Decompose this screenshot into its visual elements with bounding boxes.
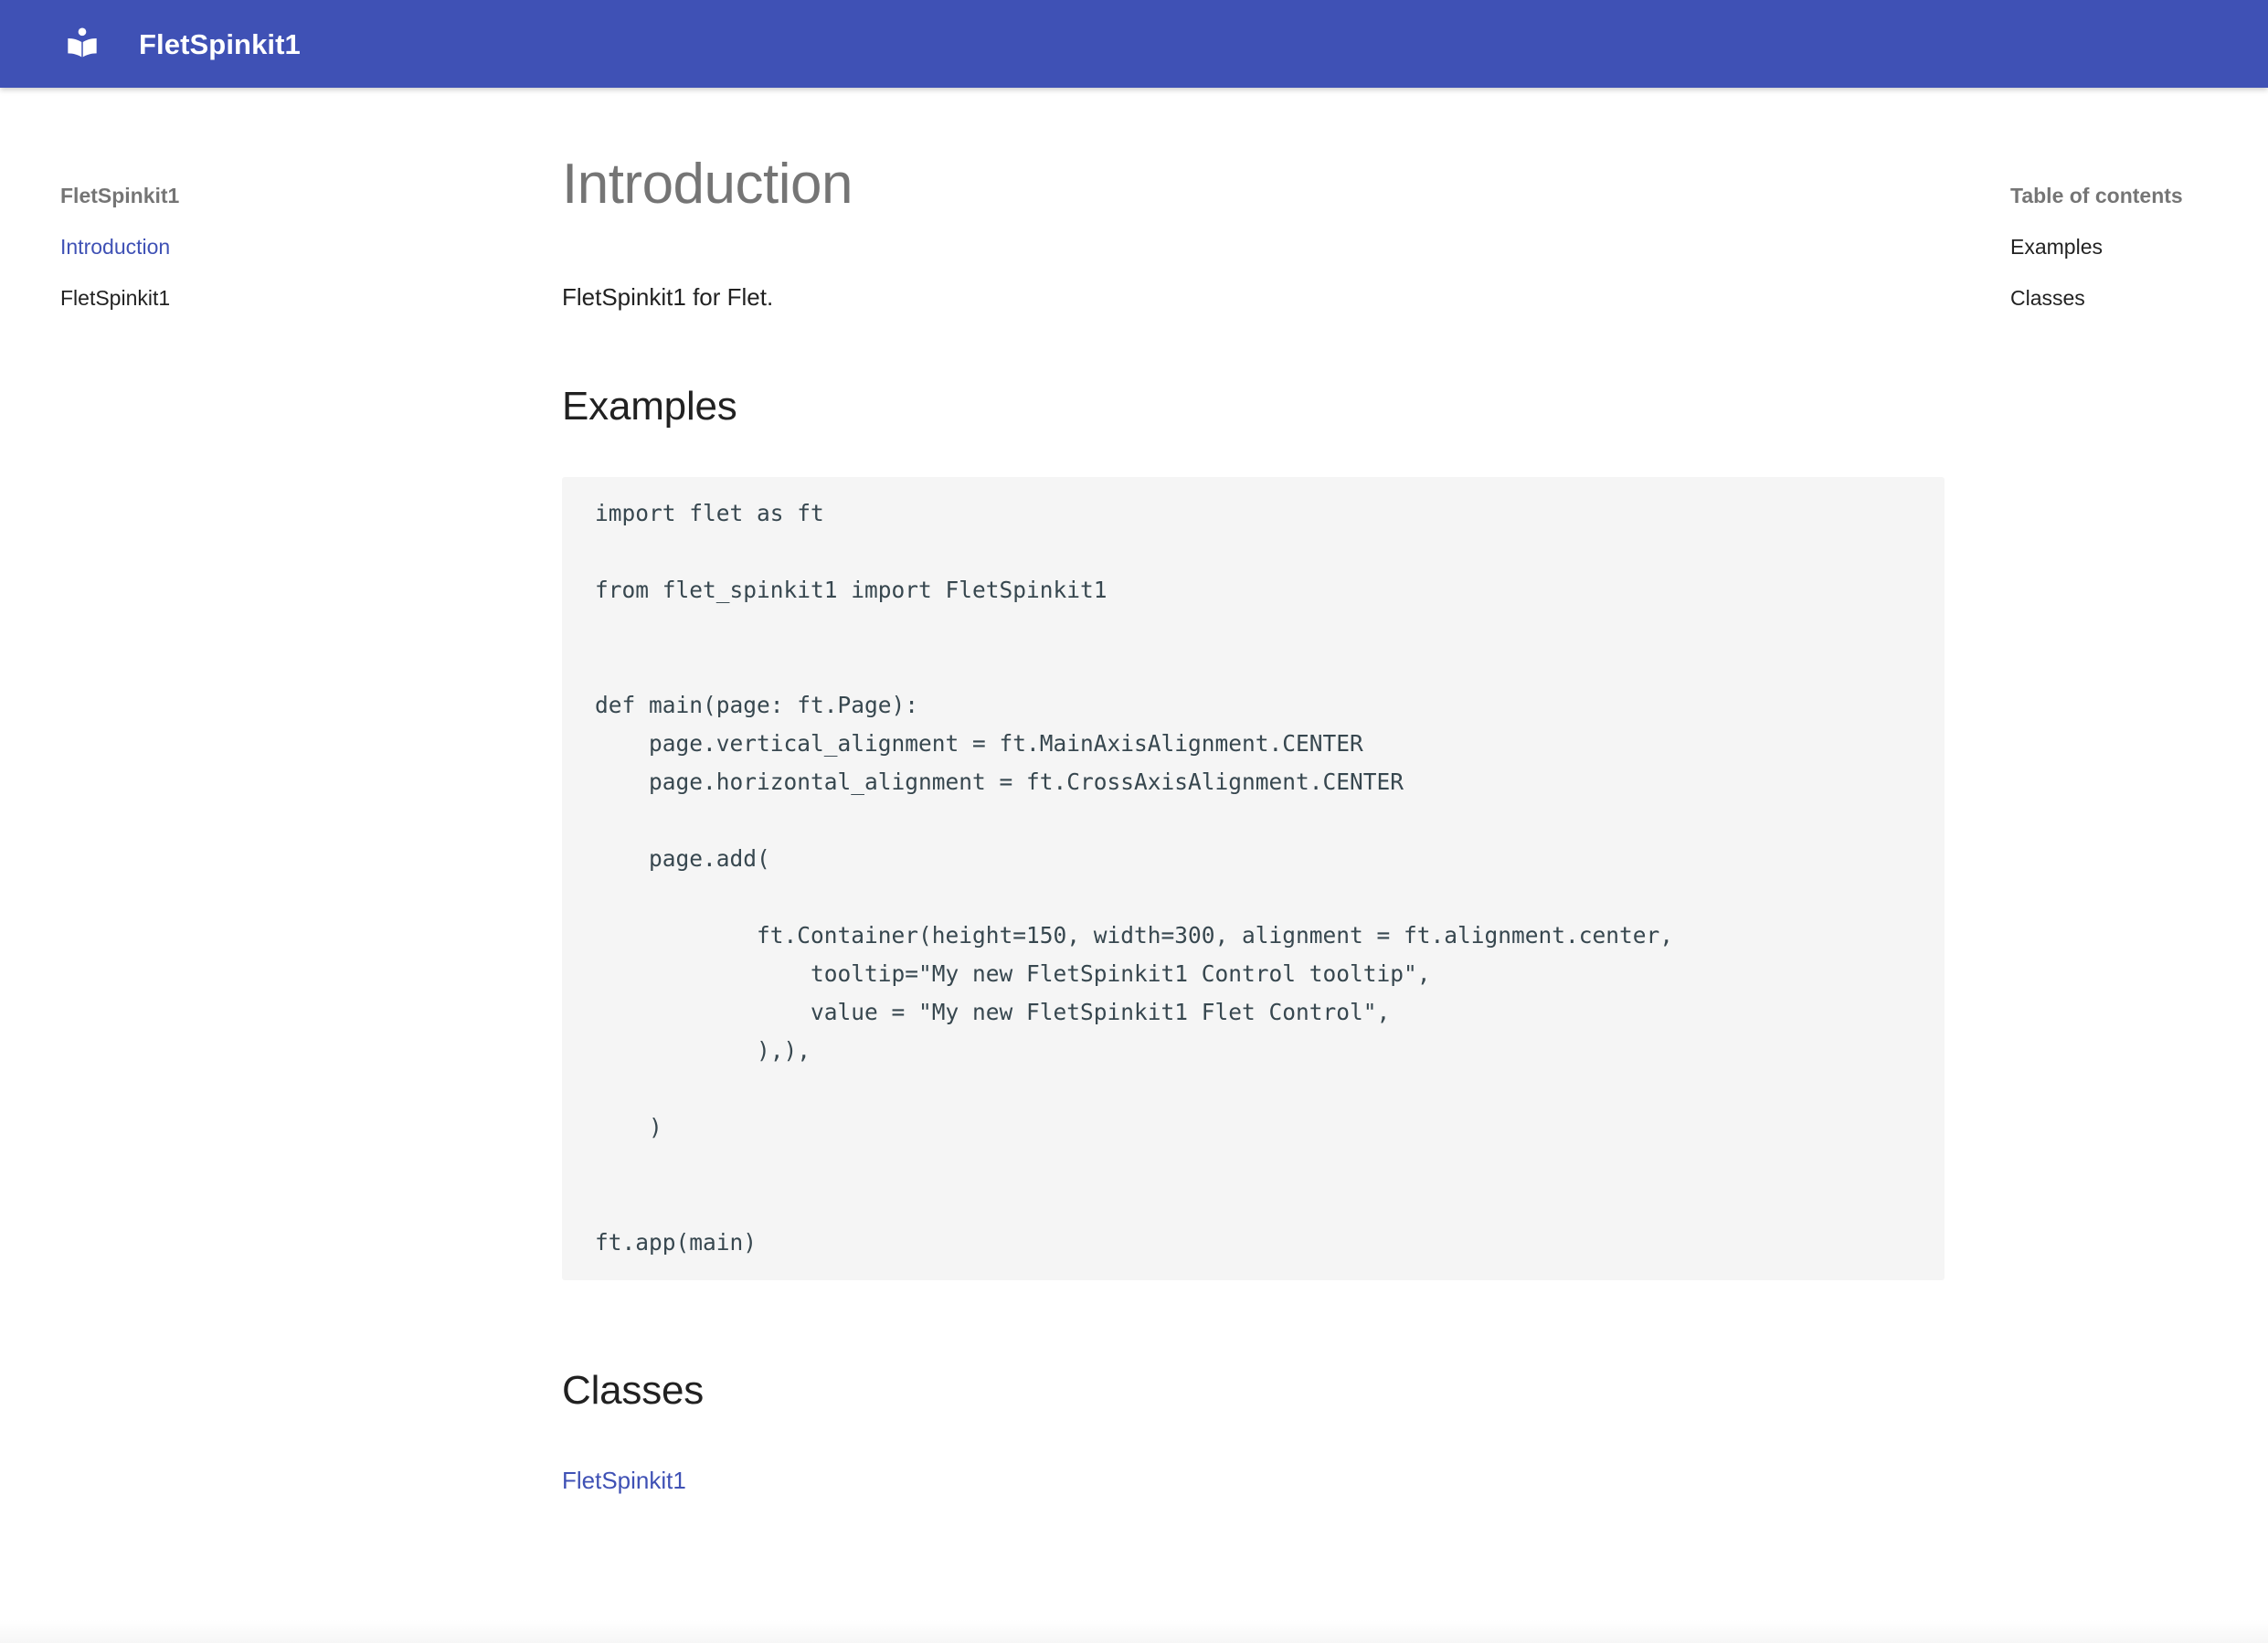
- primary-sidebar: FletSpinkit1 Introduction FletSpinkit1: [0, 88, 548, 336]
- bottom-scroll-shadow: [0, 1619, 2268, 1643]
- sidebar-item-introduction[interactable]: Introduction: [0, 234, 548, 261]
- book-open-icon[interactable]: [62, 24, 102, 64]
- table-of-contents: Table of contents Examples Classes: [2010, 88, 2268, 336]
- main-content: Introduction FletSpinkit1 for Flet. Exam…: [548, 88, 2010, 1497]
- sidebar-item-fletspinkit1[interactable]: FletSpinkit1: [0, 285, 548, 313]
- sidebar-section-title: FletSpinkit1: [0, 183, 548, 210]
- intro-paragraph: FletSpinkit1 for Flet.: [548, 222, 2010, 317]
- section-heading-examples: Examples: [548, 316, 2010, 435]
- code-block[interactable]: import flet as ft from flet_spinkit1 imp…: [562, 477, 1945, 1280]
- page-title: Introduction: [548, 148, 2010, 222]
- header-title: FletSpinkit1: [139, 30, 301, 58]
- page-body: FletSpinkit1 Introduction FletSpinkit1 I…: [0, 88, 2268, 1643]
- section-heading-classes: Classes: [548, 1280, 2010, 1419]
- class-link-fletspinkit1[interactable]: FletSpinkit1: [548, 1418, 686, 1497]
- toc-item-examples[interactable]: Examples: [2010, 234, 2268, 261]
- toc-item-classes[interactable]: Classes: [2010, 285, 2268, 313]
- app-header: FletSpinkit1: [0, 0, 2268, 88]
- code-block-content: import flet as ft from flet_spinkit1 imp…: [562, 477, 1945, 1280]
- toc-title: Table of contents: [2010, 183, 2268, 210]
